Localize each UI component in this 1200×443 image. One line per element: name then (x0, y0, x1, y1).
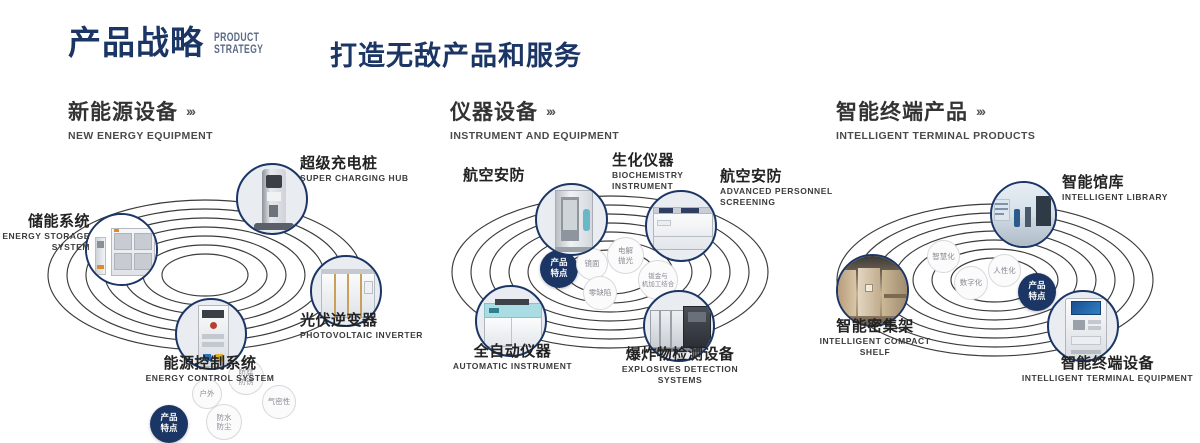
core-bubble: 产品 特点 (150, 405, 188, 443)
section-heading-instrument: 仪器设备››› INSTRUMENT AND EQUIPMENT (450, 96, 619, 142)
section-title-cn: 新能源设备 (68, 96, 178, 126)
feature-bubble: 气密性 (262, 385, 296, 419)
label-en: ENERGY CONTROL SYSTEM (110, 373, 310, 384)
node-charging-pile[interactable] (236, 163, 308, 235)
diagram-new-energy: 产品 特点 户外 防腐 防锈 防水 防尘 气密性 储能系统 ENERGY STO… (0, 150, 400, 390)
label-en: ENERGY STORAGE SYSTEM (0, 231, 90, 252)
label-cn: 能源控制系统 (110, 355, 310, 372)
label-cn: 储能系统 (0, 213, 90, 230)
label-cn: 智能终端设备 (1015, 355, 1200, 372)
section-title-en: NEW ENERGY EQUIPMENT (68, 130, 213, 142)
label-en: INTELLIGENT LIBRARY (1062, 192, 1200, 203)
label-aviation-security-left: 航空安防 (390, 167, 525, 184)
label-en: INTELLIGENT TERMINAL EQUIPMENT (1015, 373, 1200, 384)
label-cn: 全自动仪器 (420, 343, 605, 360)
label-cn: 智能馆库 (1062, 174, 1200, 191)
label-en: AUTOMATIC INSTRUMENT (420, 361, 605, 372)
diagram-instrument: 产品 特点 镜面 电解 抛光 零缺陷 钣金与 机加工结合 生化仪器 BIOCHE… (400, 150, 820, 395)
poster-canvas: 产品战略 PRODUCT STRATEGY 打造无敌产品和服务 新能源设备›››… (0, 0, 1200, 422)
label-intelligent-library: 智能馆库 INTELLIGENT LIBRARY (1062, 174, 1200, 203)
page-title-en: PRODUCT STRATEGY (214, 31, 293, 59)
section-heading-new-energy: 新能源设备››› NEW ENERGY EQUIPMENT (68, 96, 213, 142)
label-intelligent-terminal-equipment: 智能终端设备 INTELLIGENT TERMINAL EQUIPMENT (1015, 355, 1200, 384)
label-intelligent-compact-shelf: 智能密集架 INTELLIGENT COMPACT SHELF (805, 318, 945, 358)
node-biochemistry-instrument[interactable] (535, 183, 608, 256)
section-title-en: INTELLIGENT TERMINAL PRODUCTS (836, 130, 1035, 142)
biochemistry-analyzer-icon (537, 185, 606, 254)
feature-bubble: 数字化 (954, 266, 988, 300)
diagram-intelligent-terminal: 智慧化 数字化 人性化 产品 特点 智能馆库 INTELLIGENT LIBRA… (790, 150, 1200, 400)
feature-bubble: 防水 防尘 (206, 404, 242, 440)
chevron-right-icon: ››› (546, 103, 554, 119)
slogan: 打造无敌产品和服务 (330, 34, 582, 73)
label-en: EXPLOSIVES DETECTION SYSTEMS (600, 364, 760, 385)
feature-bubble: 人性化 (988, 254, 1021, 287)
chevron-right-icon: ››› (976, 103, 984, 119)
library-interior-icon (992, 183, 1055, 246)
node-advanced-personnel-screening[interactable] (645, 190, 717, 262)
page-title: 产品战略 (68, 26, 204, 59)
feature-bubble: 零缺陷 (583, 276, 617, 310)
charging-pile-icon (238, 165, 306, 233)
poster-header: 产品战略 PRODUCT STRATEGY (68, 26, 324, 59)
label-cn: 爆炸物检测设备 (600, 346, 760, 363)
section-title-cn: 仪器设备 (450, 96, 538, 126)
label-en: INTELLIGENT COMPACT SHELF (805, 336, 945, 357)
label-energy-storage: 储能系统 ENERGY STORAGE SYSTEM (0, 213, 90, 253)
node-intelligent-library[interactable] (990, 181, 1057, 248)
self-service-kiosk-icon (1049, 292, 1117, 360)
label-automatic-instrument: 全自动仪器 AUTOMATIC INSTRUMENT (420, 343, 605, 372)
chevron-right-icon: ››› (186, 103, 194, 119)
feature-bubble: 智慧化 (927, 240, 960, 273)
node-intelligent-terminal-equipment[interactable] (1047, 290, 1119, 362)
feature-bubble: 电解 抛光 (607, 237, 644, 274)
compact-shelf-icon (838, 256, 907, 325)
energy-storage-cabinet-icon (87, 215, 156, 284)
label-energy-control: 能源控制系统 ENERGY CONTROL SYSTEM (110, 355, 310, 384)
label-cn: 智能密集架 (805, 318, 945, 335)
section-title-cn: 智能终端产品 (836, 96, 968, 126)
label-explosives-detection: 爆炸物检测设备 EXPLOSIVES DETECTION SYSTEMS (600, 346, 760, 386)
screening-machine-icon (647, 192, 715, 260)
section-heading-intelligent-terminal: 智能终端产品››› INTELLIGENT TERMINAL PRODUCTS (836, 96, 1035, 142)
label-cn: 航空安防 (390, 167, 525, 184)
section-title-en: INSTRUMENT AND EQUIPMENT (450, 130, 619, 142)
node-energy-storage[interactable] (85, 213, 158, 286)
